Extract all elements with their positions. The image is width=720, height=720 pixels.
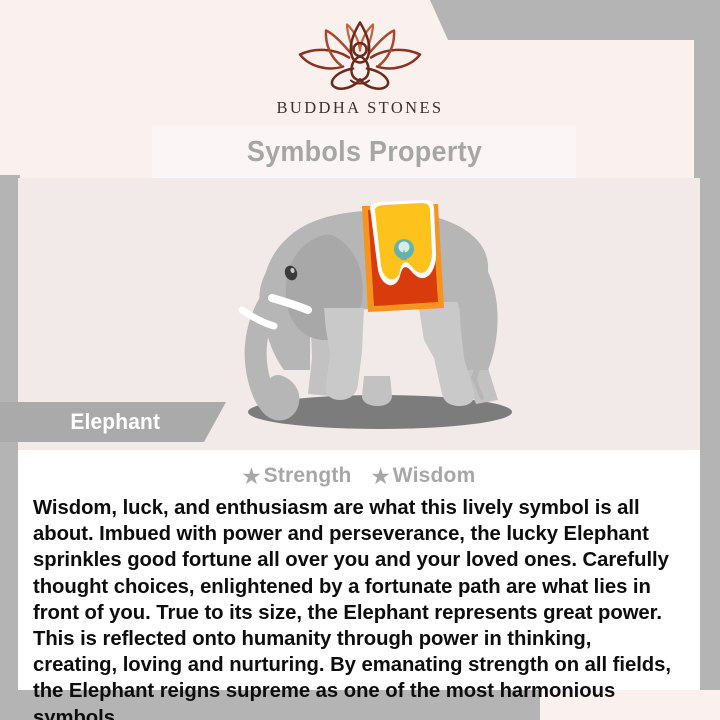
brand-name: BUDDHA STONES bbox=[0, 98, 720, 118]
attribute-wisdom-label: Wisdom bbox=[393, 464, 476, 487]
attribute-strength-label: Strength bbox=[264, 464, 352, 487]
page-title: Symbols Property bbox=[246, 136, 481, 169]
brand-logo: BUDDHA STONES bbox=[0, 18, 720, 118]
elephant-illustration bbox=[212, 190, 524, 438]
symbol-name: Elephant bbox=[70, 409, 160, 435]
description-text: Wisdom, luck, and enthusiasm are what th… bbox=[33, 495, 677, 720]
description-panel: ★Strength ★Wisdom Wisdom, luck, and enth… bbox=[18, 450, 700, 690]
elephant-saddle bbox=[362, 200, 444, 312]
lotus-meditation-figure-icon bbox=[285, 18, 435, 94]
elephant-front-leg bbox=[324, 308, 364, 400]
attribute-strength: ★Strength bbox=[243, 464, 352, 488]
attributes-row: ★Strength ★Wisdom bbox=[18, 450, 700, 488]
symbol-name-banner: Elephant bbox=[0, 402, 226, 442]
title-band: Symbols Property bbox=[152, 126, 576, 178]
star-icon: ★ bbox=[243, 467, 261, 487]
attribute-wisdom: ★Wisdom bbox=[372, 464, 476, 488]
symbols-property-card: BUDDHA STONES Symbols Property bbox=[0, 0, 720, 720]
star-icon: ★ bbox=[372, 467, 390, 487]
